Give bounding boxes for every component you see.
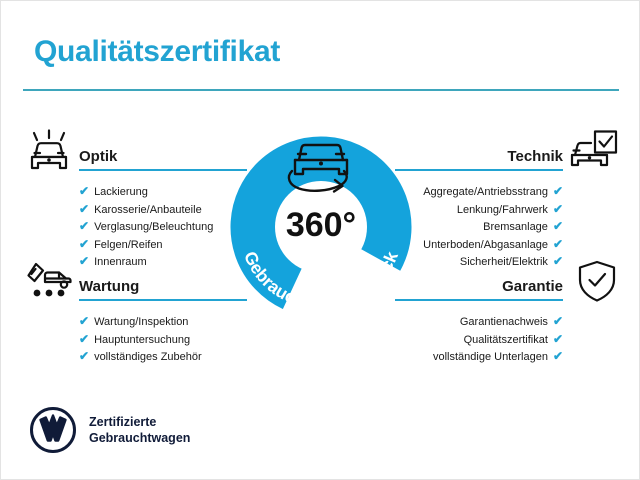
check-icon: ✔: [79, 202, 89, 216]
list-item-label: Verglasung/Beleuchtung: [94, 221, 213, 233]
check-icon: ✔: [79, 332, 89, 346]
list-item-label: Sicherheit/Elektrik: [460, 256, 548, 268]
footer-text: Zertifizierte Gebrauchtwagen: [89, 414, 190, 446]
list-item-label: Karosserie/Anbauteile: [94, 204, 202, 216]
check-icon: ✔: [79, 254, 89, 268]
list-item-label: Bremsanlage: [483, 221, 548, 233]
check-icon: ✔: [79, 237, 89, 251]
list-item: vollständige Unterlagen✔: [393, 348, 563, 366]
badge-360-gebrauchtwagen-check: Gebrauchtwagen-Check 360°: [223, 119, 419, 319]
shiny-car-icon: [23, 129, 75, 175]
footer-line-2: Gebrauchtwagen: [89, 430, 190, 446]
footer-line-1: Zertifizierte: [89, 414, 190, 430]
check-icon: ✔: [79, 219, 89, 233]
section-optik-divider: [79, 169, 247, 171]
qualitaetszertifikat-page: Qualitätszertifikat Optik ✔Lackierung ✔K…: [0, 0, 640, 480]
car-checkbox-icon: [567, 129, 619, 175]
list-item-label: Aggregate/Antriebsstrang: [423, 186, 548, 198]
volkswagen-logo: [29, 406, 77, 454]
section-wartung-title: Wartung: [79, 278, 139, 295]
check-icon: ✔: [79, 314, 89, 328]
list-item-label: Hauptuntersuchung: [94, 334, 190, 346]
section-technik-divider: [395, 169, 563, 171]
section-garantie-list: Garantienachweis✔ Qualitätszertifikat✔ v…: [393, 313, 563, 366]
check-icon: ✔: [553, 219, 563, 233]
list-item-label: vollständige Unterlagen: [433, 351, 548, 363]
page-title: Qualitätszertifikat: [34, 35, 280, 69]
list-item: ✔Hauptuntersuchung: [79, 331, 249, 349]
section-garantie-divider: [395, 299, 563, 301]
check-icon: ✔: [553, 254, 563, 268]
check-icon: ✔: [79, 184, 89, 198]
list-item-label: Unterboden/Abgasanlage: [423, 239, 548, 251]
section-wartung-list: ✔Wartung/Inspektion ✔Hauptuntersuchung ✔…: [79, 313, 249, 366]
list-item-label: vollständiges Zubehör: [94, 351, 202, 363]
shield-check-icon: [571, 259, 623, 305]
check-icon: ✔: [553, 202, 563, 216]
list-item: Qualitätszertifikat✔: [393, 331, 563, 349]
check-icon: ✔: [553, 314, 563, 328]
check-icon: ✔: [553, 349, 563, 363]
list-item-label: Felgen/Reifen: [94, 239, 163, 251]
list-item-label: Wartung/Inspektion: [94, 316, 188, 328]
section-wartung-divider: [79, 299, 247, 301]
check-icon: ✔: [553, 184, 563, 198]
list-item-label: Lenkung/Fahrwerk: [457, 204, 548, 216]
title-divider: [23, 89, 619, 91]
check-icon: ✔: [79, 349, 89, 363]
wrench-car-icon: [23, 259, 75, 305]
section-garantie-title: Garantie: [502, 278, 563, 295]
check-icon: ✔: [553, 332, 563, 346]
check-icon: ✔: [553, 237, 563, 251]
list-item-label: Garantienachweis: [460, 316, 548, 328]
list-item-label: Lackierung: [94, 186, 148, 198]
list-item: ✔vollständiges Zubehör: [79, 348, 249, 366]
section-technik-title: Technik: [507, 148, 563, 165]
badge-center-label: 360°: [286, 206, 356, 244]
footer: Zertifizierte Gebrauchtwagen: [29, 406, 190, 454]
list-item-label: Innenraum: [94, 256, 147, 268]
list-item-label: Qualitätszertifikat: [464, 334, 548, 346]
section-optik-title: Optik: [79, 148, 117, 165]
